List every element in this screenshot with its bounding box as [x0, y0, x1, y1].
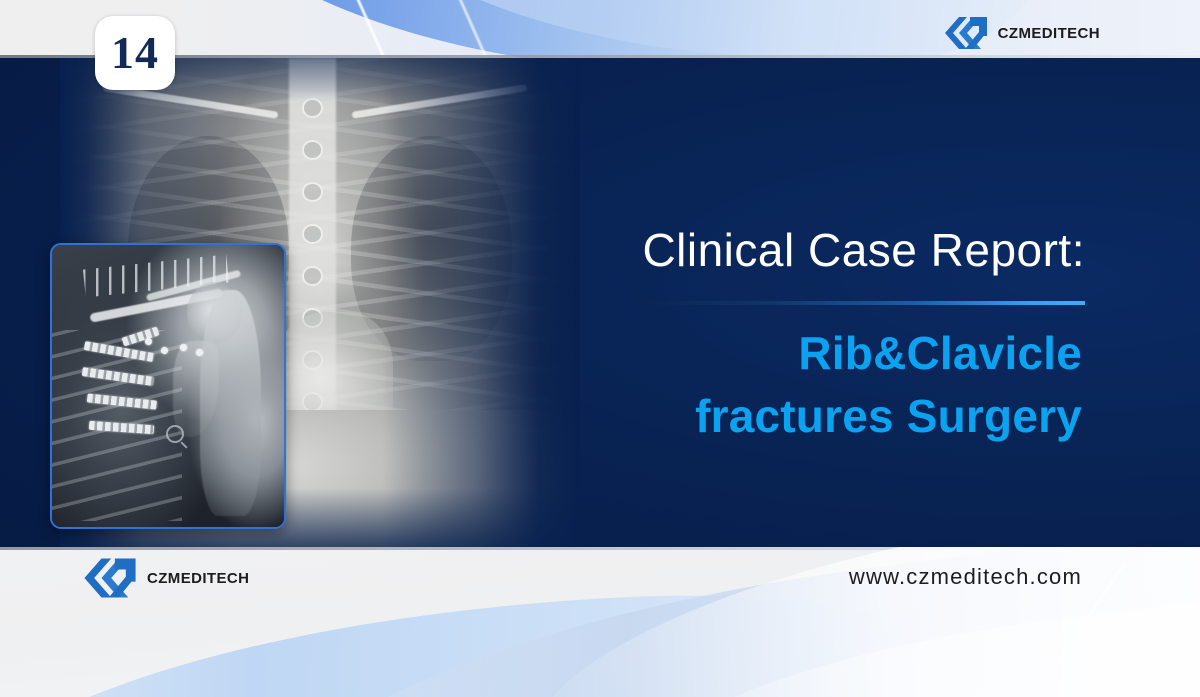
headline-line-2: fractures Surgery — [695, 389, 1082, 443]
slide-number-value: 14 — [111, 30, 159, 76]
brand-logo-top-wordmark: CZMEDITECH — [998, 25, 1100, 42]
inset-xray-image — [52, 245, 284, 527]
inset-magnifier-icon — [166, 425, 184, 443]
main-navy-panel: Clinical Case Report: Rib&Clavicle fract… — [0, 58, 1200, 547]
inset-xray-card[interactable] — [50, 243, 286, 529]
inset-screw — [161, 347, 168, 354]
slide-canvas: CZMEDITECH 14 — [0, 0, 1200, 697]
bottom-decorative-band: www.czmeditech.com CZMEDITECH — [0, 547, 1200, 697]
title-divider — [635, 301, 1085, 305]
text-block: Clinical Case Report: Rib&Clavicle fract… — [560, 116, 1200, 547]
brand-logo-bottom[interactable]: CZMEDITECH — [82, 557, 249, 599]
czmeditech-chevron-logo-icon — [82, 557, 138, 599]
slide-number-badge: 14 — [95, 16, 175, 90]
website-url[interactable]: www.czmeditech.com — [849, 564, 1082, 590]
inset-screw — [180, 344, 187, 351]
page-title: Clinical Case Report: — [642, 223, 1085, 277]
inset-screw — [145, 338, 152, 345]
brand-logo-bottom-wordmark: CZMEDITECH — [147, 570, 249, 587]
czmeditech-chevron-logo-icon — [943, 16, 989, 50]
headline-line-1: Rib&Clavicle — [798, 326, 1082, 380]
brand-logo-top[interactable]: CZMEDITECH — [943, 16, 1100, 50]
